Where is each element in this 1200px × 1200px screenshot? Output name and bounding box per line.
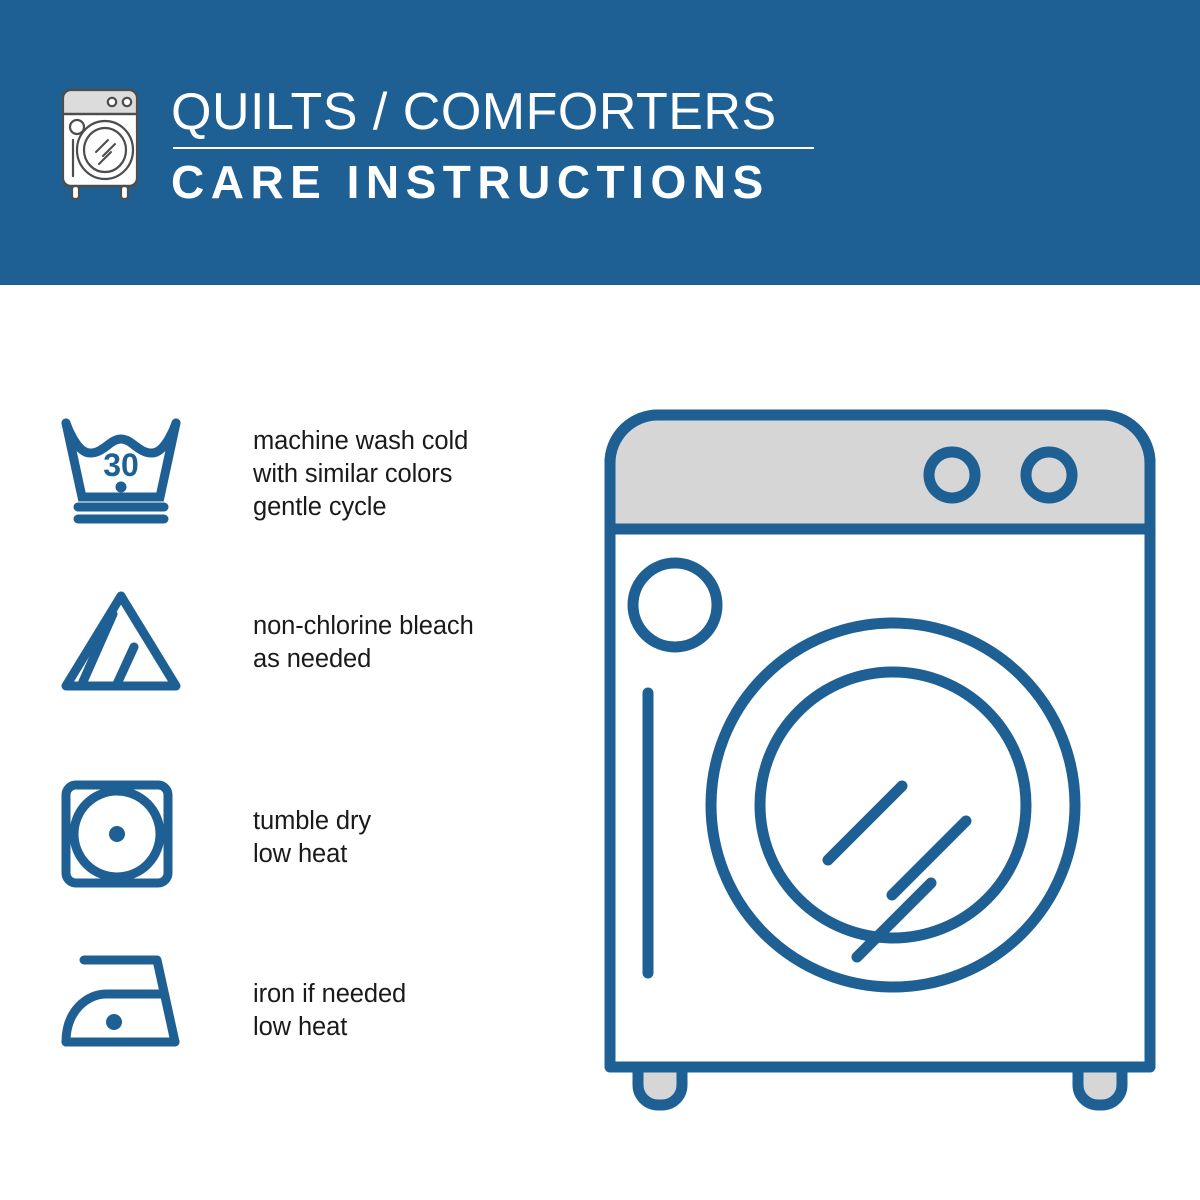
care-text-line: as needed (253, 643, 474, 676)
tumble-dry-icon (58, 779, 176, 889)
care-icon-slot (58, 950, 188, 1050)
iron-icon (58, 950, 184, 1050)
care-row: non-chlorine bleach as needed (0, 588, 540, 694)
care-icon-slot (58, 779, 188, 889)
care-text: tumble dry low heat (253, 779, 371, 871)
care-text-line: iron if needed (253, 978, 406, 1011)
care-text: machine wash cold with similar colors ge… (253, 413, 468, 524)
machine-wash-basin-icon: 30 (58, 413, 184, 525)
wash-temperature-label: 30 (103, 447, 139, 483)
non-chlorine-bleach-triangle-icon (58, 588, 184, 694)
care-text-line: tumble dry (253, 805, 371, 838)
machine-knob (1026, 452, 1072, 498)
care-text-line: low heat (253, 1011, 406, 1044)
care-icon-slot (58, 588, 188, 694)
care-text-line: gentle cycle (253, 491, 468, 524)
care-row: 30 machine wash cold with similar colors… (0, 413, 540, 525)
detergent-dispenser-icon (633, 563, 717, 647)
page-title: QUILTS / COMFORTERS (171, 84, 814, 140)
care-text: non-chlorine bleach as needed (253, 588, 474, 676)
front-load-washing-machine-illustration (600, 405, 1160, 1115)
care-text-line: low heat (253, 838, 371, 871)
title-divider (173, 147, 814, 149)
care-text: iron if needed low heat (253, 950, 406, 1044)
care-text-line: with similar colors (253, 458, 468, 491)
header-content: QUILTS / COMFORTERS CARE INSTRUCTIONS (55, 82, 814, 207)
care-text-line: non-chlorine bleach (253, 610, 474, 643)
header-banner: QUILTS / COMFORTERS CARE INSTRUCTIONS (0, 0, 1200, 285)
washing-machine-graphic (600, 405, 1160, 1115)
machine-knob (929, 452, 975, 498)
washing-machine-icon (55, 82, 153, 206)
care-icon-slot: 30 (58, 413, 188, 525)
page-subtitle: CARE INSTRUCTIONS (171, 157, 814, 207)
care-row: tumble dry low heat (0, 779, 540, 889)
care-row: iron if needed low heat (0, 950, 540, 1050)
title-block: QUILTS / COMFORTERS CARE INSTRUCTIONS (171, 82, 814, 207)
care-text-line: machine wash cold (253, 425, 468, 458)
